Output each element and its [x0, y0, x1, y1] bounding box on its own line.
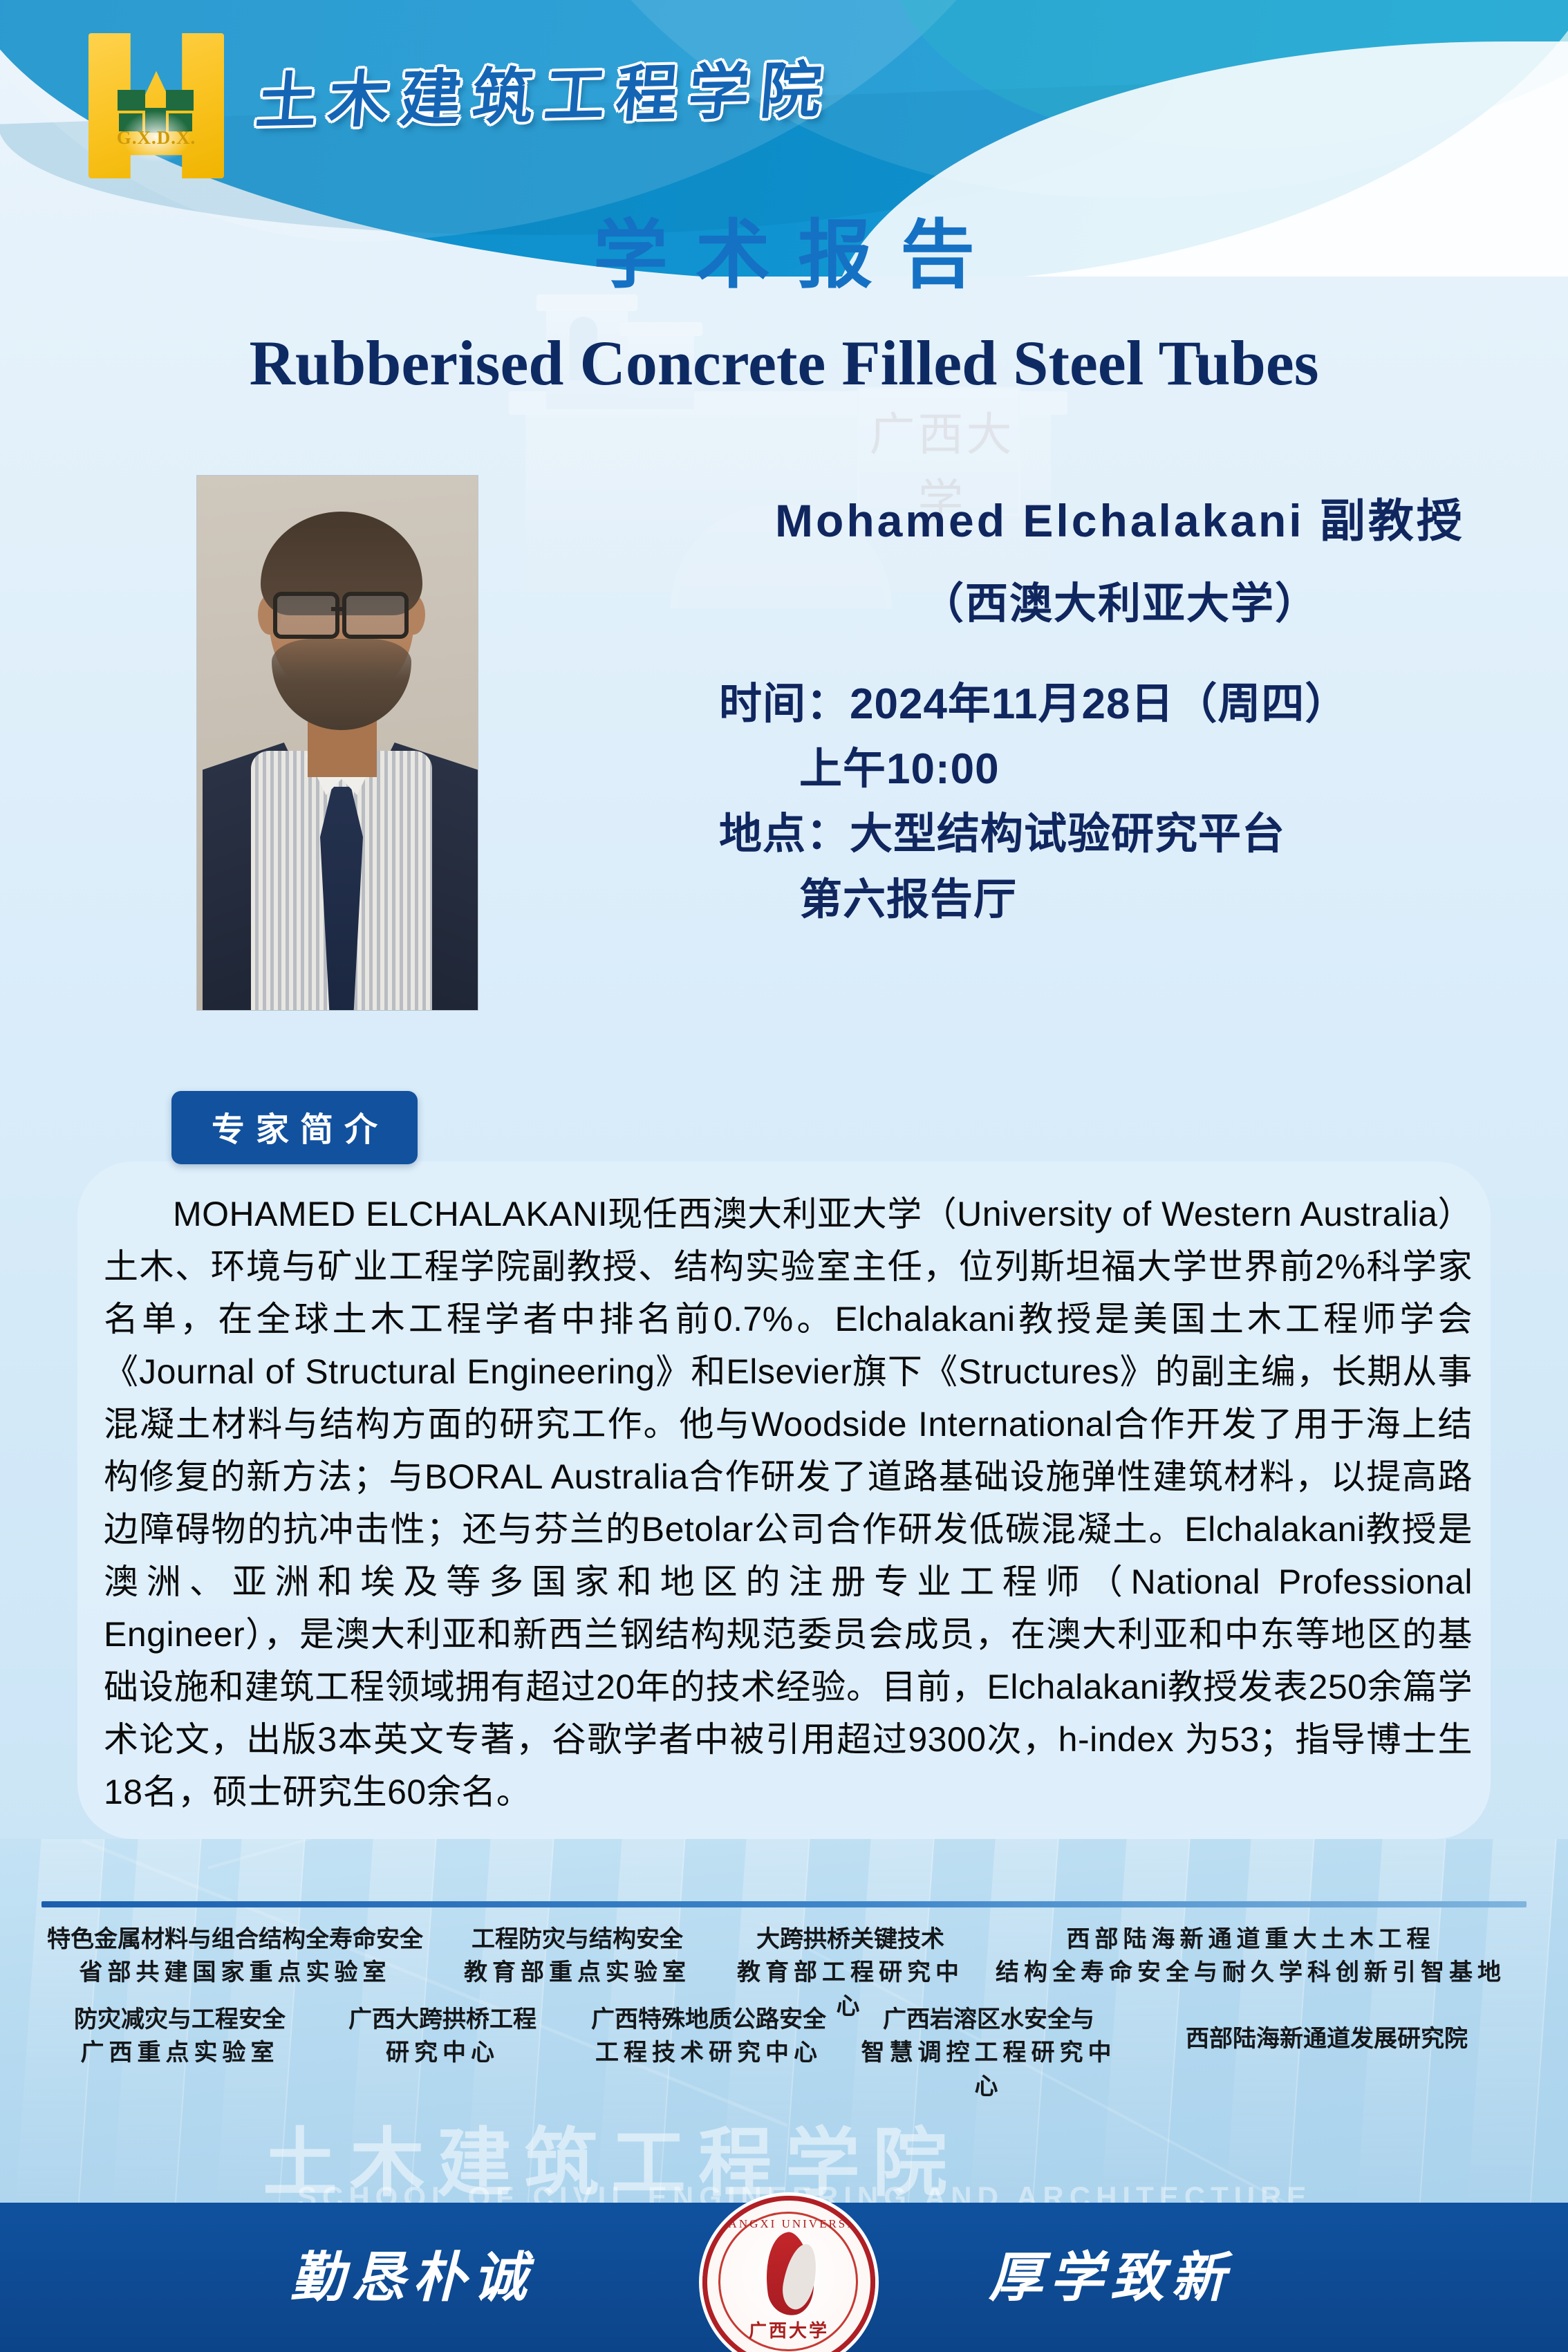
lab-item-line1: 西部陆海新通道发展研究院	[1127, 2023, 1527, 2056]
logo-block-icon	[118, 90, 145, 111]
bio-badge: 专家简介	[171, 1091, 418, 1164]
bio-body-text: MOHAMED ELCHALAKANI现任西澳大利亚大学（University …	[104, 1188, 1473, 1818]
lab-item-line2: 省部共建国家重点实验室	[41, 1957, 429, 1990]
event-detail-hour: 上午10:00	[719, 737, 1521, 802]
lab-item: 工程防灾与结构安全教育部重点实验室	[429, 1923, 726, 1990]
lab-item-line1: 广西大跨拱桥工程	[318, 2004, 567, 2037]
lab-item-line2: 研究中心	[318, 2037, 567, 2070]
lab-item-line1: 大跨拱桥关键技术	[726, 1923, 975, 1957]
lab-item: 特色金属材料与组合结构全寿命安全省部共建国家重点实验室	[41, 1923, 429, 1990]
lab-item-line1: 特色金属材料与组合结构全寿命安全	[41, 1923, 429, 1957]
motto-right: 厚学致新	[989, 2234, 1232, 2312]
lecture-title: Rubberised Concrete Filled Steel Tubes	[0, 326, 1568, 400]
lab-item: 广西特殊地质公路安全工程技术研究中心	[567, 2004, 850, 2071]
speaker-info: Mohamed Elchalakani 副教授 （西澳大利亚大学） 时间：202…	[719, 484, 1521, 933]
lab-item-line2: 教育部重点实验室	[429, 1957, 726, 1990]
seal-bottom-text: 广西大学	[707, 2317, 870, 2342]
lab-item-line1: 广西岩溶区水安全与	[850, 2004, 1127, 2037]
lab-item-line2: 智慧调控工程研究中心	[850, 2037, 1127, 2104]
lab-item: 防灾减灾与工程安全广西重点实验室	[41, 2004, 318, 2071]
event-details: 时间：2024年11月28日（周四） 上午10:00 地点：大型结构试验研究平台…	[719, 672, 1521, 933]
lab-item: 西部陆海新通道重大土木工程结构全寿命安全与耐久学科创新引智基地	[975, 1923, 1527, 1990]
section-heading: 学术报告	[0, 195, 1568, 303]
university-logo: G.X.D.X.	[88, 33, 224, 178]
college-name: 土木建筑工程学院	[253, 41, 837, 140]
academic-lecture-poster: G.X.D.X. 土木建筑工程学院 广西大学 学术报告 Rubberised C…	[0, 0, 1568, 2352]
lab-divider-rule	[41, 1901, 1527, 1907]
speaker-name: Mohamed Elchalakani 副教授	[719, 484, 1521, 550]
lab-item: 广西大跨拱桥工程研究中心	[318, 2004, 567, 2071]
lab-item-line1: 工程防灾与结构安全	[429, 1923, 726, 1957]
logo-abbreviation: G.X.D.X.	[88, 127, 224, 149]
event-detail-hall: 第六报告厅	[719, 868, 1521, 933]
lab-item-line1: 防灾减灾与工程安全	[41, 2004, 318, 2037]
motto-left: 勤恳朴诚	[290, 2234, 534, 2312]
lab-item: 西部陆海新通道发展研究院	[1127, 2004, 1527, 2056]
logo-block-icon	[166, 90, 194, 111]
lab-item-line2: 广西重点实验室	[41, 2037, 318, 2070]
lab-item-line1: 西部陆海新通道重大土木工程	[975, 1923, 1527, 1957]
speaker-affiliation: （西澳大利亚大学）	[719, 568, 1521, 631]
lab-item-line2: 结构全寿命安全与耐久学科创新引智基地	[975, 1957, 1527, 1990]
university-seal: GUANGXI UNIVERSITY 广西大学	[702, 2196, 875, 2352]
speaker-photo	[197, 476, 478, 1010]
seal-arc-text: GUANGXI UNIVERSITY	[707, 2217, 870, 2231]
lab-row-2: 防灾减灾与工程安全广西重点实验室广西大跨拱桥工程研究中心广西特殊地质公路安全工程…	[41, 2004, 1527, 2104]
photo-glasses-bridge	[331, 607, 342, 611]
photo-glasses-lens	[273, 592, 339, 639]
lab-item: 广西岩溶区水安全与智慧调控工程研究中心	[850, 2004, 1127, 2104]
event-detail-time: 时间：2024年11月28日（周四）	[719, 672, 1521, 737]
photo-glasses-lens	[342, 592, 409, 639]
event-detail-venue: 地点：大型结构试验研究平台	[719, 802, 1521, 867]
lab-item-line1: 广西特殊地质公路安全	[567, 2004, 850, 2037]
lab-item-line2: 工程技术研究中心	[567, 2037, 850, 2070]
